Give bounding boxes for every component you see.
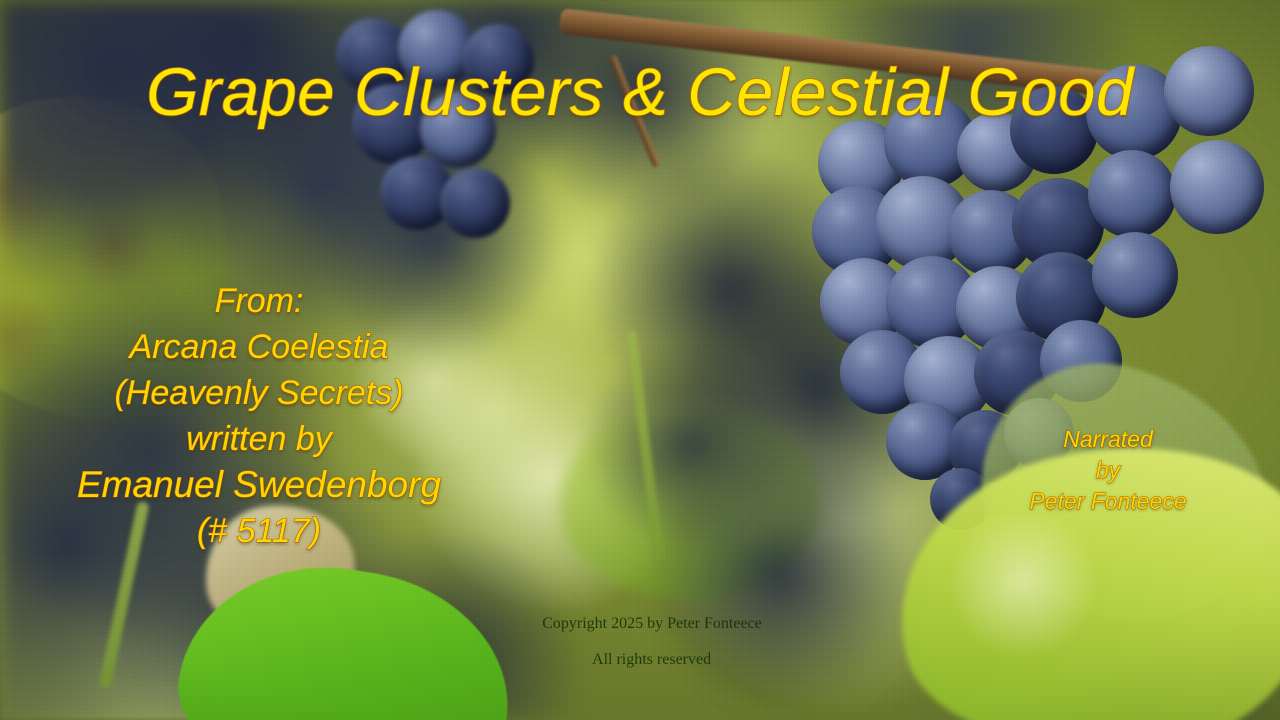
source-work-title: Arcana Coelestia (24, 324, 494, 370)
slide-text-layer: Grape Clusters & Celestial Good From: Ar… (0, 0, 1280, 720)
narration-credit-block: Narrated by Peter Fonteece (998, 424, 1218, 517)
narrator-name: Peter Fonteece (998, 486, 1218, 517)
title-slide: Grape Clusters & Celestial Good From: Ar… (0, 0, 1280, 720)
narration-label-line2: by (998, 455, 1218, 486)
slide-title: Grape Clusters & Celestial Good (0, 54, 1280, 131)
source-attribution-block: From: Arcana Coelestia (Heavenly Secrets… (24, 278, 494, 554)
copyright-bar: Copyright 2025 by Peter Fonteece All rig… (0, 597, 1280, 687)
source-written-by-label: written by (24, 416, 494, 462)
rights-reserved-text: All rights reserved (592, 651, 711, 668)
copyright-text: Copyright 2025 by Peter Fonteece (542, 615, 762, 632)
source-section-number: (# 5117) (24, 508, 494, 554)
source-work-subtitle: (Heavenly Secrets) (24, 370, 494, 416)
source-from-label: From: (24, 278, 494, 324)
source-author: Emanuel Swedenborg (24, 462, 494, 508)
narration-label-line1: Narrated (998, 424, 1218, 455)
